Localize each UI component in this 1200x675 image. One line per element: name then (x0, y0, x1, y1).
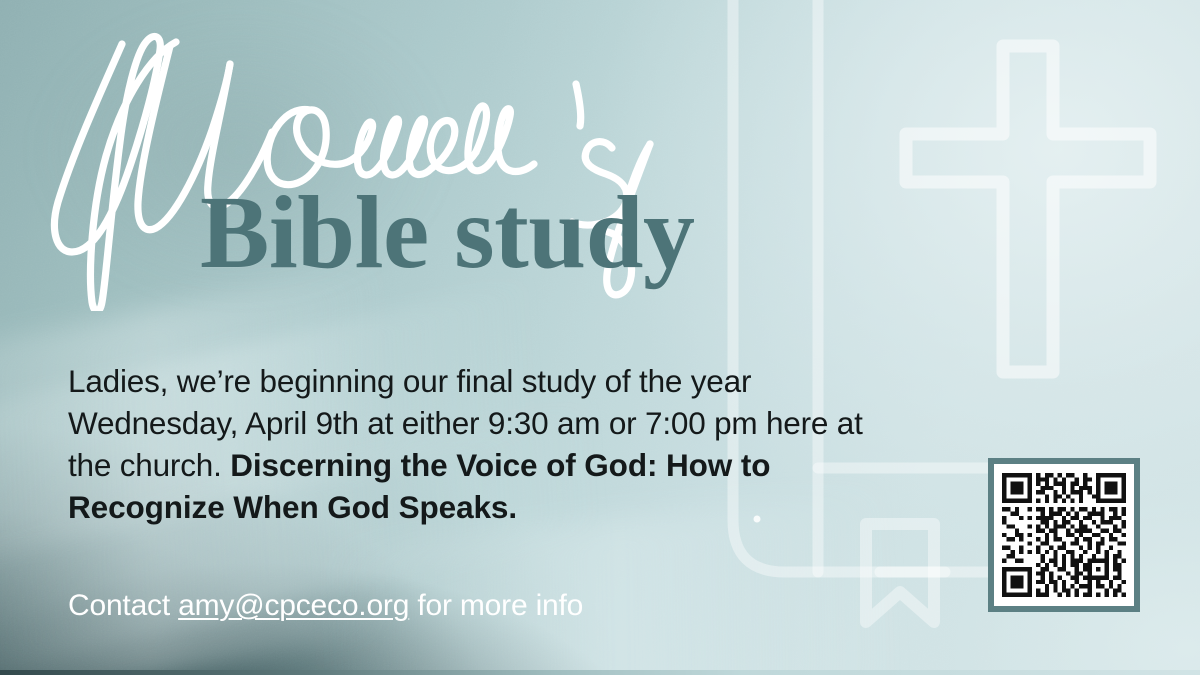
body-line-1: Ladies, we’re beginning our final study … (68, 363, 751, 399)
qr-code-matrix (1002, 472, 1126, 598)
body-line-3-bold: Discerning the Voice of God: How to (230, 447, 770, 483)
body-copy: Ladies, we’re beginning our final study … (68, 360, 998, 528)
body-line-3-regular: the church. (68, 447, 230, 483)
qr-code[interactable] (988, 458, 1140, 612)
body-line-2: Wednesday, April 9th at either 9:30 am o… (68, 405, 863, 441)
page-title-serif: Bible study (200, 181, 694, 285)
flyer-slide: Women's Bible study Ladies, we’re beginn… (0, 0, 1200, 675)
contact-suffix: for more info (409, 589, 583, 622)
contact-line: Contact amy@cpceco.org for more info (68, 586, 583, 626)
contact-prefix: Contact (68, 589, 178, 622)
body-line-4-bold: Recognize When God Speaks. (68, 489, 517, 525)
contact-email-link[interactable]: amy@cpceco.org (178, 589, 409, 622)
bottom-edge-strip (0, 670, 1200, 675)
